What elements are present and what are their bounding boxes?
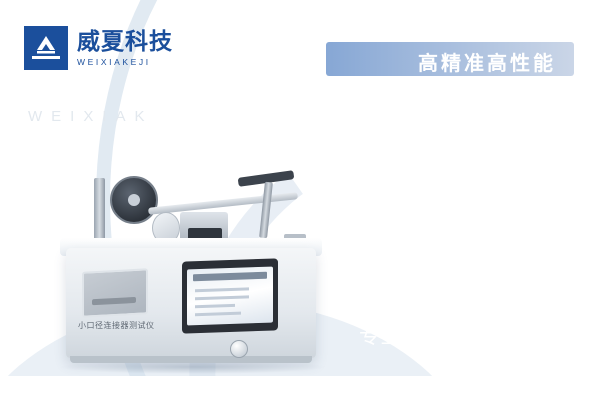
promo-banner: 威夏科技 WEIXIAKEJI WEIXIAK 高精准高性能 小口径连接器测试仪… [0,0,600,400]
touchscreen-row-1 [195,287,249,292]
brand-name-cn: 威夏科技 [77,30,173,53]
machine-drawer-slot [92,297,136,305]
mountain-logo-icon [24,26,68,70]
product-device-label: 小口径连接器测试仪 [78,320,155,331]
touchscreen-row-3 [195,304,235,308]
hero-headline: 小口径连接器测试仪 [318,96,575,135]
machine-handwheel [110,176,158,224]
feature-list: 测试精准操作简单 非标定制专属设备 专业技术指导服务 [316,196,574,360]
handwheel-hub [128,194,140,206]
watermark-text: WEIXIAK [28,108,154,125]
machine-power-button [230,340,248,358]
machine-arm-post [259,182,273,239]
brand-logo: 威夏科技 WEIXIAKEJI [24,26,173,70]
brand-logo-text: 威夏科技 WEIXIAKEJI [77,30,173,67]
hero-tagline: 高精准高性能 [336,47,556,76]
brand-name-en: WEIXIAKEJI [77,58,173,67]
touchscreen-row-4 [195,312,241,317]
feature-item-1: 测试精准操作简单 [316,196,574,250]
machine-base-foot [70,356,312,363]
touchscreen-titlebar [193,272,267,282]
feature-item-3: 专业技术指导服务 [316,305,574,360]
machine-drawer [82,268,148,317]
touchscreen-display [187,266,273,325]
feature-item-2: 非标定制专属设备 [316,250,574,305]
touchscreen-row-2 [195,295,249,300]
machine-touchscreen [182,258,278,333]
product-image: 小口径连接器测试仪 [48,160,338,375]
background-bottom-band [0,376,600,400]
